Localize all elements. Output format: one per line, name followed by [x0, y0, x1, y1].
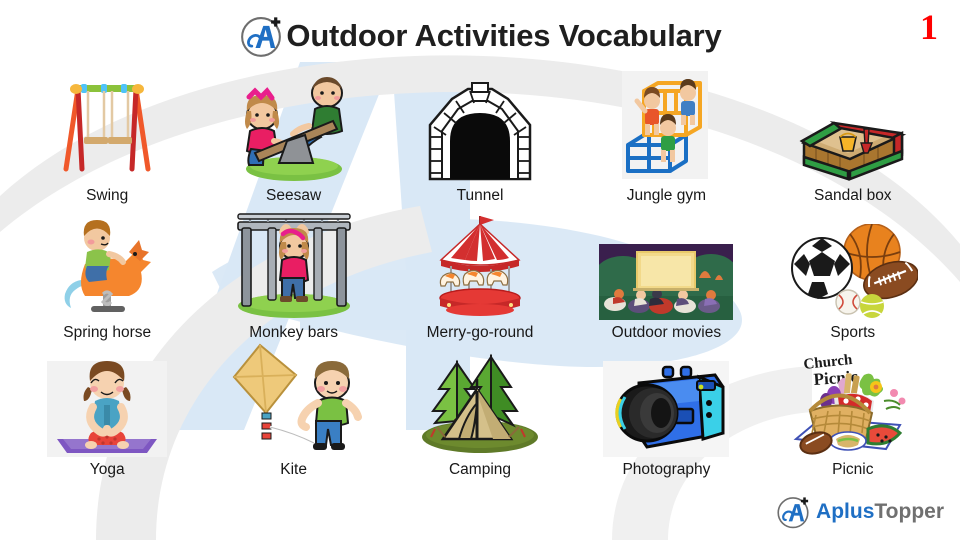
vocabulary-card-swing: Swing [14, 68, 200, 204]
aplustopper-logo-icon [775, 494, 811, 530]
page-number: 1 [920, 6, 938, 48]
brand-name-first: Aplus [816, 500, 874, 523]
vocabulary-card-yoga: Yoga [14, 341, 200, 478]
vocabulary-label: Yoga [90, 461, 125, 478]
girl-meditating-on-yoga-mat-illustration [47, 361, 167, 457]
vocabulary-card-sandal-box: Sandal box [760, 68, 946, 204]
aplustopper-logo-icon [238, 13, 284, 59]
footer-brand[interactable]: AplusTopper [775, 494, 944, 530]
spring-rider-horse-illustration [51, 216, 163, 320]
tent-with-pine-trees-illustration [415, 353, 545, 457]
vocabulary-label: Merry-go-round [427, 324, 534, 341]
vocabulary-label: Photography [622, 461, 710, 478]
blue-camera-illustration [603, 361, 729, 457]
boy-flying-kite-illustration [226, 341, 362, 457]
vocabulary-card-merry-go-round: Merry-go-round [387, 204, 573, 340]
vocabulary-card-tunnel: Tunnel [387, 68, 573, 204]
vocabulary-label: Outdoor movies [612, 324, 721, 341]
church-picnic-basket-illustration: Church Picnic [790, 353, 916, 457]
vocabulary-card-outdoor-movies: Outdoor movies [573, 204, 759, 340]
brand-name-second: Topper [874, 500, 944, 523]
vocabulary-label: Camping [449, 461, 511, 478]
vocabulary-card-photography: Photography [573, 341, 759, 478]
vocabulary-label: Spring horse [63, 324, 151, 341]
page-title: Outdoor Activities Vocabulary [286, 18, 721, 54]
vocabulary-label: Kite [280, 461, 307, 478]
vocabulary-card-jungle-gym: Jungle gym [573, 68, 759, 204]
vocabulary-card-seesaw: Seesaw [200, 68, 386, 204]
vocabulary-card-monkey-bars: Monkey bars [200, 204, 386, 340]
vocabulary-card-kite: Kite [200, 341, 386, 478]
vocabulary-label: Picnic [832, 461, 873, 478]
jungle-gym-climbing-frame-illustration [608, 71, 724, 183]
svg-text:Picnic: Picnic [813, 367, 859, 389]
brick-tunnel-illustration [422, 79, 538, 183]
vocabulary-label: Monkey bars [249, 324, 338, 341]
assorted-sports-balls-illustration [788, 224, 918, 320]
vocabulary-label: Seesaw [266, 187, 321, 204]
page-header: Outdoor Activities Vocabulary [0, 8, 960, 64]
vocabulary-card-spring-horse: Spring horse [14, 204, 200, 340]
vocabulary-grid: Swing [14, 68, 946, 478]
vocabulary-label: Jungle gym [627, 187, 706, 204]
outdoor-cinema-screen-illustration [599, 244, 733, 320]
vocabulary-label: Sandal box [814, 187, 892, 204]
swing-set-illustration [48, 75, 166, 183]
footer-wordmark: AplusTopper [816, 500, 944, 524]
vocabulary-label: Sports [830, 324, 875, 341]
vocabulary-label: Tunnel [457, 187, 504, 204]
sandbox-with-bucket-and-shovel-illustration [790, 79, 916, 183]
carousel-merry-go-round-illustration [425, 214, 535, 320]
monkey-bars-with-girl-illustration [224, 210, 364, 320]
vocabulary-label: Swing [86, 187, 128, 204]
vocabulary-card-camping: Camping [387, 341, 573, 478]
vocabulary-card-sports: Sports [760, 204, 946, 340]
vocabulary-card-picnic: Church Picnic [760, 341, 946, 478]
seesaw-with-children-illustration [229, 71, 359, 183]
